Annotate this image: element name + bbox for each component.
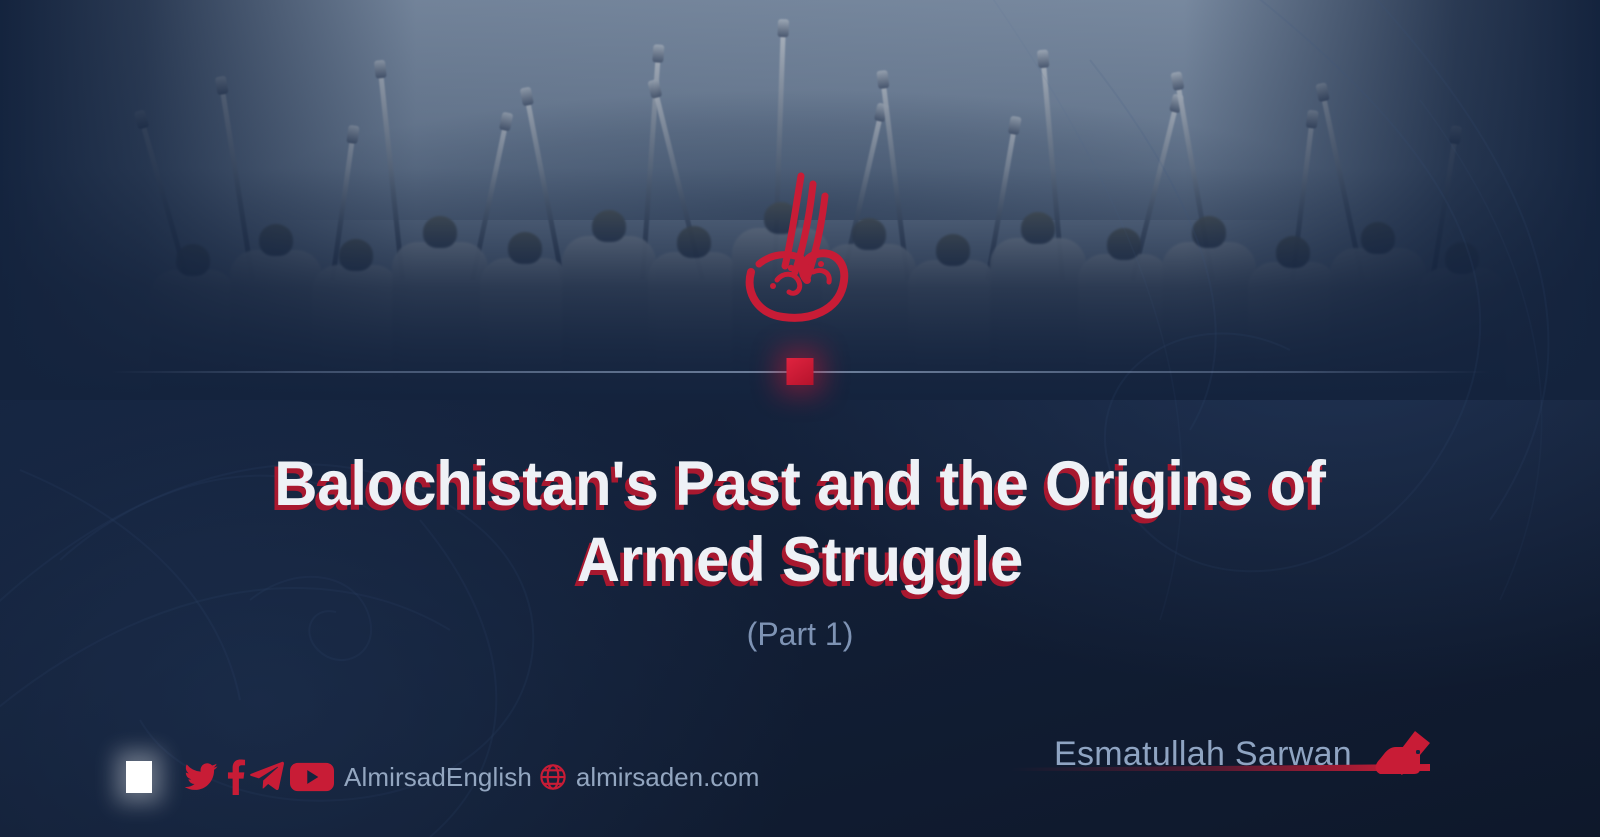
- social-handle: AlmirsadEnglish: [344, 762, 532, 793]
- social-icons-row: [180, 759, 334, 795]
- title-block: Balochistan's Past and the Origins of Ar…: [0, 447, 1600, 653]
- footer-social-group: AlmirsadEnglish almirsaden.com: [126, 759, 759, 795]
- page-subtitle: (Part 1): [0, 616, 1600, 653]
- logo-container: [0, 168, 1600, 328]
- globe-icon: [538, 762, 568, 792]
- divider-accent-square: [787, 358, 814, 385]
- white-accent-square: [126, 761, 152, 793]
- twitter-icon[interactable]: [180, 759, 222, 795]
- writing-hand-icon: [1358, 729, 1432, 777]
- website-url: almirsaden.com: [576, 762, 760, 793]
- al-mirsad-calligraphy-logo: [725, 168, 875, 328]
- telegram-icon[interactable]: [248, 760, 288, 794]
- youtube-icon[interactable]: [290, 760, 334, 794]
- page-title: Balochistan's Past and the Origins of Ar…: [173, 447, 1427, 598]
- slide-footer: AlmirsadEnglish almirsaden.com Esmatulla…: [0, 717, 1600, 837]
- facebook-icon[interactable]: [224, 759, 246, 795]
- presentation-slide: Balochistan's Past and the Origins of Ar…: [0, 0, 1600, 837]
